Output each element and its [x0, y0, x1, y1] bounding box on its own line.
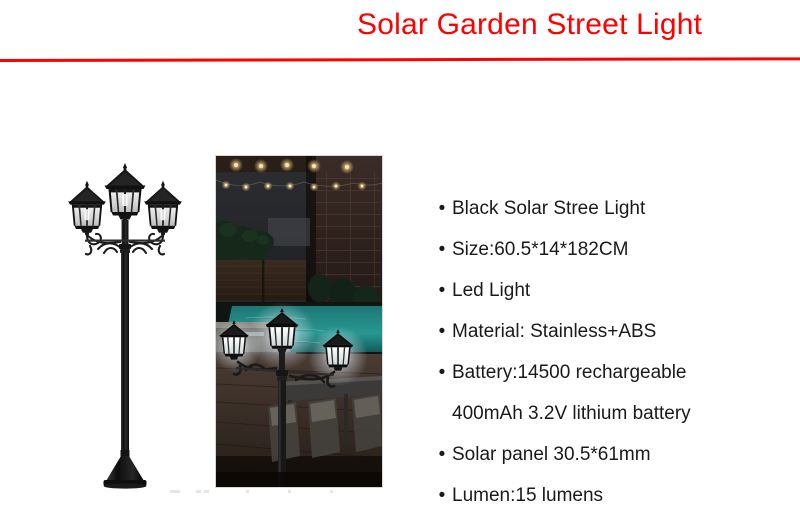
photo-watermark — [170, 488, 385, 496]
bullet-marker: • — [435, 229, 449, 270]
spec-text: Solar panel 30.5*61mm — [452, 434, 651, 475]
spec-text: Material: Stainless+ABS — [452, 311, 656, 352]
bullet-marker: • — [435, 270, 449, 311]
lantern-head-right — [144, 181, 182, 236]
spec-item-continuation: 400mAh 3.2V lithium battery — [430, 393, 780, 434]
bullet-marker: • — [435, 475, 449, 516]
lantern-head-left — [68, 181, 106, 236]
spec-text: Black Solar Stree Light — [452, 188, 645, 229]
spec-item: • Battery:14500 rechargeable — [430, 352, 780, 393]
lifestyle-photo — [215, 155, 383, 488]
page-header: Solar Garden Street Light — [0, 0, 800, 62]
spec-item: • Material: Stainless+ABS — [430, 311, 780, 352]
bullet-marker: • — [435, 188, 449, 229]
spec-text: Led Light — [452, 270, 530, 311]
bullet-marker: • — [435, 311, 449, 352]
spec-item: • Size:60.5*14*182CM — [430, 229, 780, 270]
bullet-marker: • — [435, 352, 449, 393]
title-divider-rule — [0, 57, 800, 62]
spec-text: Battery:14500 rechargeable — [452, 352, 687, 393]
spec-item: • Led Light — [430, 270, 780, 311]
spec-item: • Black Solar Stree Light — [430, 188, 780, 229]
lantern-head-center — [105, 163, 146, 223]
page-title: Solar Garden Street Light — [357, 6, 702, 44]
spec-item: • Solar panel 30.5*61mm — [430, 434, 780, 475]
lamp-post-base — [104, 450, 147, 489]
product-silhouette-image — [60, 150, 200, 495]
spec-text: Lumen:15 lumens — [452, 475, 603, 516]
spec-list: • Black Solar Stree Light • Size:60.5*14… — [430, 188, 780, 516]
spec-text: Size:60.5*14*182CM — [452, 229, 628, 270]
spec-text: 400mAh 3.2V lithium battery — [452, 393, 691, 434]
spec-item: • Lumen:15 lumens — [430, 475, 780, 516]
bullet-marker: • — [435, 434, 449, 475]
